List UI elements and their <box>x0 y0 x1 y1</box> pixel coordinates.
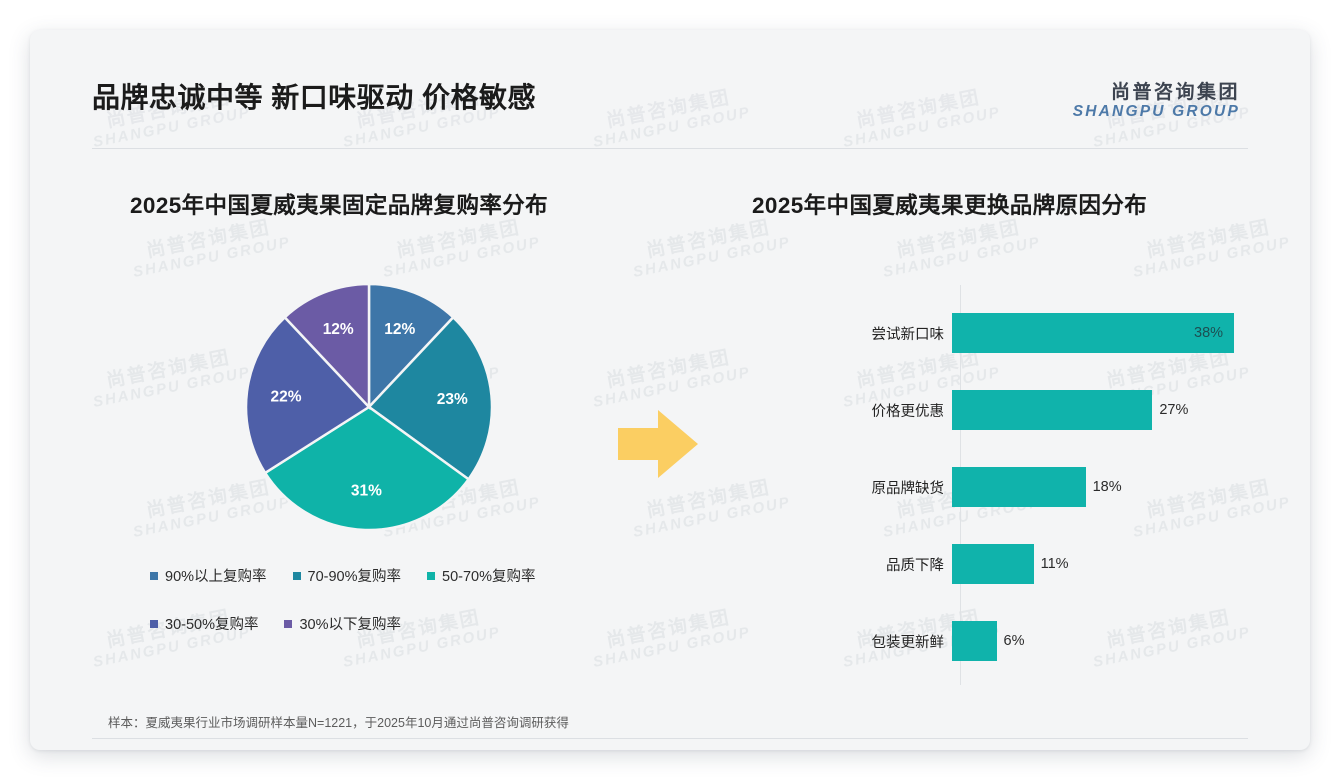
brand-logo-en: SHANGPU GROUP <box>1073 103 1240 120</box>
bar-chart-row: 包装更新鲜6% <box>740 621 1240 661</box>
pie-legend-label: 90%以上复购率 <box>165 565 267 586</box>
bar-track: 6% <box>952 621 1240 661</box>
legend-swatch-icon <box>293 572 301 580</box>
pie-slice-label: 12% <box>384 321 415 338</box>
bar-fill[interactable] <box>952 313 1234 353</box>
left-chart-title: 2025年中国夏威夷果固定品牌复购率分布 <box>130 188 548 220</box>
legend-swatch-icon <box>150 620 158 628</box>
legend-swatch-icon <box>427 572 435 580</box>
pie-legend-label: 50-70%复购率 <box>442 565 535 586</box>
bar-value-label: 11% <box>1041 556 1069 572</box>
bar-chart-row: 价格更优惠27% <box>740 390 1240 430</box>
slide-footer: ©2025.12 SHANGPU GROUP www.shangpu-china… <box>30 742 1310 750</box>
bar-category-label: 尝试新口味 <box>740 323 952 344</box>
brand-logo-cn: 尚普咨询集团 <box>1073 82 1240 103</box>
pie-slice-label: 12% <box>323 321 354 338</box>
bar-category-label: 原品牌缺货 <box>740 477 952 498</box>
bar-value-label: 27% <box>1159 402 1188 418</box>
bar-track: 18% <box>952 467 1240 507</box>
bar-category-label: 品质下降 <box>740 554 952 575</box>
pie-legend-label: 30%以下复购率 <box>299 613 401 634</box>
bar-fill[interactable] <box>952 467 1086 507</box>
sample-footnote: 样本：夏威夷果行业市场调研样本量N=1221，于2025年10月通过尚普咨询调研… <box>108 712 569 731</box>
bar-chart: 尝试新口味38%价格更优惠27%原品牌缺货18%品质下降11%包装更新鲜6% <box>740 285 1240 695</box>
bar-value-label: 18% <box>1093 479 1122 495</box>
pie-legend-item[interactable]: 30-50%复购率 <box>150 613 258 634</box>
page-title: 品牌忠诚中等 新口味驱动 价格敏感 <box>92 76 536 116</box>
pie-legend-item[interactable]: 70-90%复购率 <box>293 565 401 586</box>
bar-fill[interactable] <box>952 621 997 661</box>
pie-legend-item[interactable]: 50-70%复购率 <box>427 565 535 586</box>
pie-chart: 12%23%31%22%12% <box>242 280 496 534</box>
pie-slice-label: 22% <box>271 389 302 406</box>
bar-track: 27% <box>952 390 1240 430</box>
footnote-divider <box>92 738 1248 739</box>
bar-value-label: 6% <box>1004 633 1025 649</box>
panel-switch-reasons: 2025年中国夏威夷果更换品牌原因分布 尝试新口味38%价格更优惠27%原品牌缺… <box>720 170 1250 680</box>
pie-legend-row: 30-50%复购率30%以下复购率 <box>150 613 630 634</box>
right-chart-title: 2025年中国夏威夷果更换品牌原因分布 <box>752 188 1147 220</box>
pie-chart-svg: 12%23%31%22%12% <box>242 280 496 534</box>
header-divider <box>92 148 1248 149</box>
bar-track: 38% <box>952 313 1240 353</box>
bar-chart-row: 原品牌缺货18% <box>740 467 1240 507</box>
pie-slice-label: 31% <box>351 483 382 500</box>
bar-value-label: 38% <box>1194 325 1223 341</box>
pie-legend-item[interactable]: 30%以下复购率 <box>284 613 401 634</box>
pie-legend: 90%以上复购率70-90%复购率50-70%复购率30-50%复购率30%以下… <box>150 565 630 661</box>
pie-slice-label: 23% <box>437 391 468 408</box>
legend-swatch-icon <box>150 572 158 580</box>
bar-chart-row: 品质下降11% <box>740 544 1240 584</box>
bar-category-label: 价格更优惠 <box>740 400 952 421</box>
bar-chart-row: 尝试新口味38% <box>740 313 1240 353</box>
pie-legend-label: 70-90%复购率 <box>308 565 401 586</box>
slide-card: 尚普咨询集团SHANGPU GROUP尚普咨询集团SHANGPU GROUP尚普… <box>30 30 1310 750</box>
panel-repurchase-rate: 2025年中国夏威夷果固定品牌复购率分布 12%23%31%22%12% 90%… <box>92 170 637 680</box>
bar-track: 11% <box>952 544 1240 584</box>
bar-fill[interactable] <box>952 544 1034 584</box>
pie-legend-label: 30-50%复购率 <box>165 613 258 634</box>
legend-swatch-icon <box>284 620 292 628</box>
pie-legend-item[interactable]: 90%以上复购率 <box>150 565 267 586</box>
pie-legend-row: 90%以上复购率70-90%复购率50-70%复购率 <box>150 565 630 586</box>
bar-fill[interactable] <box>952 390 1152 430</box>
bar-category-label: 包装更新鲜 <box>740 631 952 652</box>
brand-logo: 尚普咨询集团 SHANGPU GROUP <box>1073 82 1240 121</box>
slide-header: 品牌忠诚中等 新口味驱动 价格敏感 尚普咨询集团 SHANGPU GROUP <box>30 30 1310 120</box>
arrow-right-icon <box>618 408 698 485</box>
